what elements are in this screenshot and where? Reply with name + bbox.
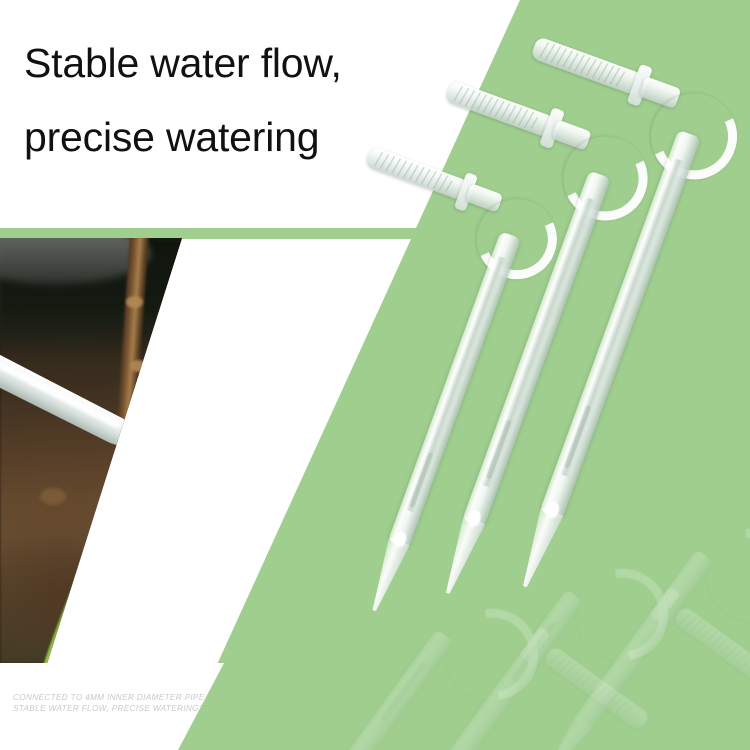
page-title: Stable water flow, precise watering — [24, 26, 484, 174]
spike-shaft — [313, 629, 453, 750]
product-marketing-image: Stable water flow, precise watering CONN… — [0, 0, 750, 750]
shaft-slot — [380, 661, 427, 723]
product-caption: CONNECTED TO 4MM INNER DIAMETER PIPE, ST… — [13, 692, 208, 715]
tube-ridges — [676, 609, 750, 678]
